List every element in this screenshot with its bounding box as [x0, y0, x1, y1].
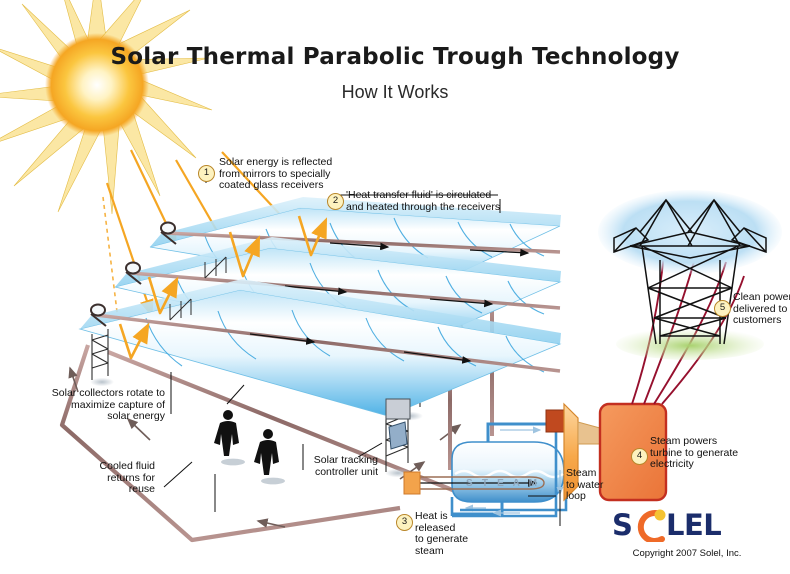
step-badge-1: 1 — [198, 165, 215, 182]
step-badge-5: 5 — [714, 300, 731, 317]
steam-vessel — [404, 424, 564, 514]
step-badge-4: 4 — [631, 448, 648, 465]
person-figure-2 — [254, 429, 285, 484]
annotation-tracking-unit: Solar tracking controller unit — [288, 455, 378, 478]
annotation-collectors-rotate: Solar collectors rotate to maximize capt… — [40, 388, 165, 423]
step-caption-1: Solar energy is reflected from mirrors t… — [219, 157, 379, 192]
copyright-notice: Copyright 2007 Solel, Inc. — [612, 548, 762, 559]
page-subtitle: How It Works — [0, 82, 790, 103]
annotation-steam-loop: Steam to water loop — [566, 468, 626, 503]
solel-logo: S LEL — [612, 508, 730, 542]
steam-vessel-label: S T E A M — [466, 478, 540, 489]
step-caption-5: Clean power delivered to customers — [733, 292, 790, 327]
step-badge-2: 2 — [327, 193, 344, 210]
person-figure-1 — [214, 410, 245, 465]
step-badge-3: 3 — [396, 514, 413, 531]
annotation-cooled-fluid: Cooled fluid returns for reuse — [60, 461, 155, 496]
sun-graphic — [0, 0, 212, 214]
diagram-canvas: Solar Thermal Parabolic Trough Technolog… — [0, 0, 790, 574]
page-title: Solar Thermal Parabolic Trough Technolog… — [0, 44, 790, 70]
step-caption-3: Heat is released to generate steam — [415, 511, 495, 557]
step-caption-2: 'Heat transfer fluid' is circulated and … — [346, 190, 526, 213]
support-pylon-3 — [92, 329, 108, 380]
step-caption-4: Steam powers turbine to generate electri… — [650, 436, 768, 471]
sun-ray-dotted — [103, 197, 118, 320]
logo-orange-crescent-icon — [612, 508, 730, 542]
